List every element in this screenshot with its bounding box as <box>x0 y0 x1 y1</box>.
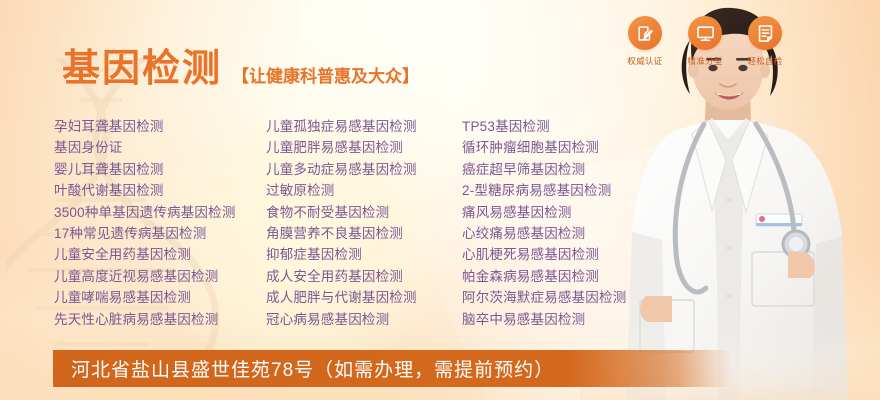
badge-easy-self-check[interactable]: 轻松自检 <box>742 16 788 67</box>
service-column-2: 儿童孤独症易感基因检测 儿童肥胖易感基因检测 儿童多动症易感基因检测 过敏原检测… <box>266 116 462 330</box>
badge-label: 轻松自检 <box>747 55 782 67</box>
badge-group: 权威认证 精准分型 轻松自检 <box>622 16 788 67</box>
service-item[interactable]: 儿童高度近视易感基因检测 <box>54 266 266 287</box>
service-item[interactable]: 过敏原检测 <box>266 180 462 201</box>
monitor-icon <box>696 24 715 43</box>
service-item[interactable]: 帕金森病易感基因检测 <box>462 266 674 287</box>
service-item[interactable]: 17种常见遗传病基因检测 <box>54 223 266 244</box>
service-item[interactable]: 癌症超早筛基因检测 <box>462 159 674 180</box>
service-item[interactable]: 心绞痛易感基因检测 <box>462 223 674 244</box>
page-title: 基因检测 <box>62 50 222 88</box>
badge-authority-certification[interactable]: 权威认证 <box>622 16 668 67</box>
service-item[interactable]: 儿童肥胖易感基因检测 <box>266 137 462 158</box>
address-bar: 河北省盐山县盛世佳苑78号（如需办理，需提前预约） <box>53 350 731 387</box>
badge-label: 精准分型 <box>687 55 722 67</box>
service-column-1: 孕妇耳聋基因检测 基因身份证 婴儿耳聋基因检测 叶酸代谢基因检测 3500种单基… <box>54 116 266 330</box>
service-item[interactable]: 孕妇耳聋基因检测 <box>54 116 266 137</box>
service-item[interactable]: 食物不耐受基因检测 <box>266 202 462 223</box>
badge-label: 权威认证 <box>627 55 662 67</box>
document-icon <box>756 24 775 43</box>
service-item[interactable]: 儿童多动症易感基因检测 <box>266 159 462 180</box>
edit-certificate-icon <box>636 24 655 43</box>
address-text: 河北省盐山县盛世佳苑78号（如需办理，需提前预约） <box>53 355 554 382</box>
service-item[interactable]: 阿尔茨海默症易感基因检测 <box>462 287 674 308</box>
service-item[interactable]: 抑郁症基因检测 <box>266 244 462 265</box>
service-item[interactable]: 脑卒中易感基因检测 <box>462 309 674 330</box>
badge-circle <box>628 16 662 50</box>
service-item[interactable]: 成人肥胖与代谢基因检测 <box>266 287 462 308</box>
service-item[interactable]: 基因身份证 <box>54 137 266 158</box>
service-item[interactable]: 婴儿耳聋基因检测 <box>54 159 266 180</box>
service-item[interactable]: 儿童孤独症易感基因检测 <box>266 116 462 137</box>
service-item[interactable]: 3500种单基因遗传病基因检测 <box>54 202 266 223</box>
service-item[interactable]: 叶酸代谢基因检测 <box>54 180 266 201</box>
badge-circle <box>688 16 722 50</box>
service-item[interactable]: 心肌梗死易感基因检测 <box>462 244 674 265</box>
badge-precise-typing[interactable]: 精准分型 <box>682 16 728 67</box>
service-list: 孕妇耳聋基因检测 基因身份证 婴儿耳聋基因检测 叶酸代谢基因检测 3500种单基… <box>54 116 674 330</box>
service-item[interactable]: 先天性心脏病易感基因检测 <box>54 309 266 330</box>
service-item[interactable]: 儿童安全用药基因检测 <box>54 244 266 265</box>
service-item[interactable]: 角膜营养不良基因检测 <box>266 223 462 244</box>
service-item[interactable]: 痛风易感基因检测 <box>462 202 674 223</box>
page-subtitle: 【让健康科普惠及大众】 <box>232 68 419 88</box>
service-item[interactable]: 成人安全用药基因检测 <box>266 266 462 287</box>
service-item[interactable]: 冠心病易感基因检测 <box>266 309 462 330</box>
service-column-3: TP53基因检测 循环肿瘤细胞基因检测 癌症超早筛基因检测 2-型糖尿病易感基因… <box>462 116 674 330</box>
poster-root: 基因检测 【让健康科普惠及大众】 权威认证 精准分型 <box>0 0 880 400</box>
service-item[interactable]: TP53基因检测 <box>462 116 674 137</box>
service-item[interactable]: 2-型糖尿病易感基因检测 <box>462 180 674 201</box>
service-item[interactable]: 循环肿瘤细胞基因检测 <box>462 137 674 158</box>
service-item[interactable]: 儿童哮喘易感基因检测 <box>54 287 266 308</box>
headline: 基因检测 【让健康科普惠及大众】 <box>62 50 419 88</box>
badge-circle <box>748 16 782 50</box>
